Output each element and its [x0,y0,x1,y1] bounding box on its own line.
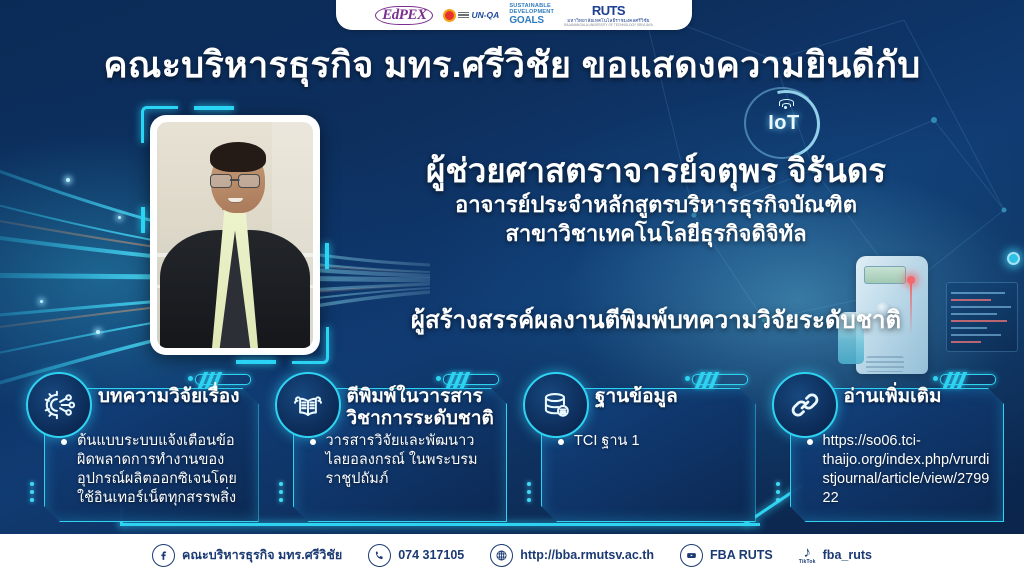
edpex-logo-text: EdPEX [382,7,426,23]
sdg-logo: SUSTAINABLE DEVELOPMENT GOALS [509,4,554,26]
list-item: TCI ฐาน 1 [557,432,746,451]
footer-website[interactable]: http://bba.rmutsv.ac.th [490,544,654,567]
card-title: ฐานข้อมูล [595,386,748,408]
globe-icon [490,544,513,567]
person-position: อาจารย์ประจำหลักสูตรบริหารธุรกิจบัณฑิต [336,191,976,220]
footer-phone-label: 074 317105 [398,548,464,562]
top-cap-decoration [940,374,996,385]
portrait-photo [150,115,320,355]
photo-corner-top-left [141,106,178,143]
database-icon [523,372,589,438]
ruts-logo: RUTS มหาวิทยาลัยเทคโนโลยีราชมงคลศรีวิชัย… [564,4,653,26]
youtube-icon [680,544,703,567]
glow-dot [40,300,43,303]
tiktok-mark: TikTok [799,560,816,565]
dot-decoration [776,482,780,502]
iot-badge: IoT [752,90,826,150]
top-cap-decoration [443,374,499,385]
cap-dot-decoration [685,376,690,381]
person-name: ผู้ช่วยศาสตราจารย์จตุพร จิรันดร [336,150,976,191]
aunqa-bars-icon [458,12,469,19]
avatar [157,122,313,348]
cap-dot-decoration [188,376,193,381]
iot-badge-label: IoT [758,112,810,135]
ruts-logo-sub: RAJAMANGALA UNIVERSITY OF TECHNOLOGY SRI… [564,24,653,27]
cap-dot-decoration [436,376,441,381]
list-item-link[interactable]: https://so06.tci-thaijo.org/index.php/vr… [806,432,995,509]
card-list: วารสารวิจัยและพัฒนาวไลยอลงกรณ์ ในพระบรมร… [309,432,498,489]
gear-circuit-icon [26,372,92,438]
facebook-icon [152,544,175,567]
footer-facebook[interactable]: คณะบริหารธุรกิจ มทร.ศรีวิชัย [152,544,342,567]
card-title: อ่านเพิ่มเติม [844,386,997,408]
card-title: ตีพิมพ์ในวารสารวิชาการระดับชาติ [347,386,500,431]
card-journal: ตีพิมพ์ในวารสารวิชาการระดับชาติ วารสารวิ… [269,372,508,530]
link-chain-icon [772,372,838,438]
card-research-article: บทความวิจัยเรื่อง ต้นแบบระบบแจ้งเตือนข้อ… [20,372,259,530]
person-department: สาขาวิชาเทคโนโลยีธุรกิจดิจิทัล [336,220,976,249]
person-achievement: ผู้สร้างสรรค์ผลงานตีพิมพ์บทความวิจัยระดั… [336,300,976,339]
phone-icon [368,544,391,567]
card-title: บทความวิจัยเรื่อง [98,386,251,408]
ruts-logo-text: RUTS [592,3,625,18]
footer-phone[interactable]: 074 317105 [368,544,464,567]
card-list: TCI ฐาน 1 [557,432,746,451]
footer-tiktok-label: fba_ruts [823,548,872,562]
footer-tiktok[interactable]: ♪ TikTok fba_ruts [799,545,872,565]
accreditation-logo-bar: EdPEX UN-QA SUSTAINABLE DEVELOPMENT GOAL… [336,0,692,30]
sdg-line3: GOALS [509,16,554,26]
aunqa-logo: UN-QA [443,4,499,26]
photo-accent-bar [141,207,145,233]
photo-accent-bar [194,106,234,110]
poster-canvas: EdPEX UN-QA SUSTAINABLE DEVELOPMENT GOAL… [0,0,1024,576]
aunqa-circle-icon [443,9,456,22]
footer-website-label: http://bba.rmutsv.ac.th [520,548,654,562]
glow-dot [96,330,100,334]
photo-accent-bar [325,243,329,269]
aunqa-logo-text: UN-QA [471,10,499,20]
top-cap-decoration [692,374,748,385]
tiktok-icon: ♪ TikTok [799,545,816,565]
card-list: ต้นแบบระบบแจ้งเตือนข้อผิดพลาดการทำงานของ… [60,432,249,509]
list-item: วารสารวิจัยและพัฒนาวไลยอลงกรณ์ ในพระบรมร… [309,432,498,489]
list-item: ต้นแบบระบบแจ้งเตือนข้อผิดพลาดการทำงานของ… [60,432,249,509]
contact-footer: คณะบริหารธุรกิจ มทร.ศรีวิชัย 074 317105 … [0,534,1024,576]
page-title: คณะบริหารธุรกิจ มทร.ศรีวิชัย ขอแสดงความย… [0,36,1024,93]
open-book-laurel-icon [275,372,341,438]
footer-facebook-label: คณะบริหารธุรกิจ มทร.ศรีวิชัย [182,545,342,565]
cap-dot-decoration [933,376,938,381]
wifi-icon [778,99,792,109]
photo-accent-bar [236,360,276,364]
card-list: https://so06.tci-thaijo.org/index.php/vr… [806,432,995,509]
card-read-more[interactable]: อ่านเพิ่มเติม https://so06.tci-thaijo.or… [766,372,1005,530]
info-cards: บทความวิจัยเรื่อง ต้นแบบระบบแจ้งเตือนข้อ… [20,372,1004,530]
dot-decoration [527,482,531,502]
dot-decoration [279,482,283,502]
top-cap-decoration [195,374,251,385]
dot-decoration [30,482,34,502]
person-info: ผู้ช่วยศาสตราจารย์จตุพร จิรันดร อาจารย์ป… [336,150,976,248]
card-database: ฐานข้อมูล TCI ฐาน 1 [517,372,756,530]
photo-corner-bottom-right [292,327,329,364]
edpex-logo: EdPEX [375,4,433,26]
footer-youtube[interactable]: FBA RUTS [680,544,773,567]
footer-youtube-label: FBA RUTS [710,548,773,562]
glow-dot [66,178,70,182]
glow-dot [118,216,121,219]
